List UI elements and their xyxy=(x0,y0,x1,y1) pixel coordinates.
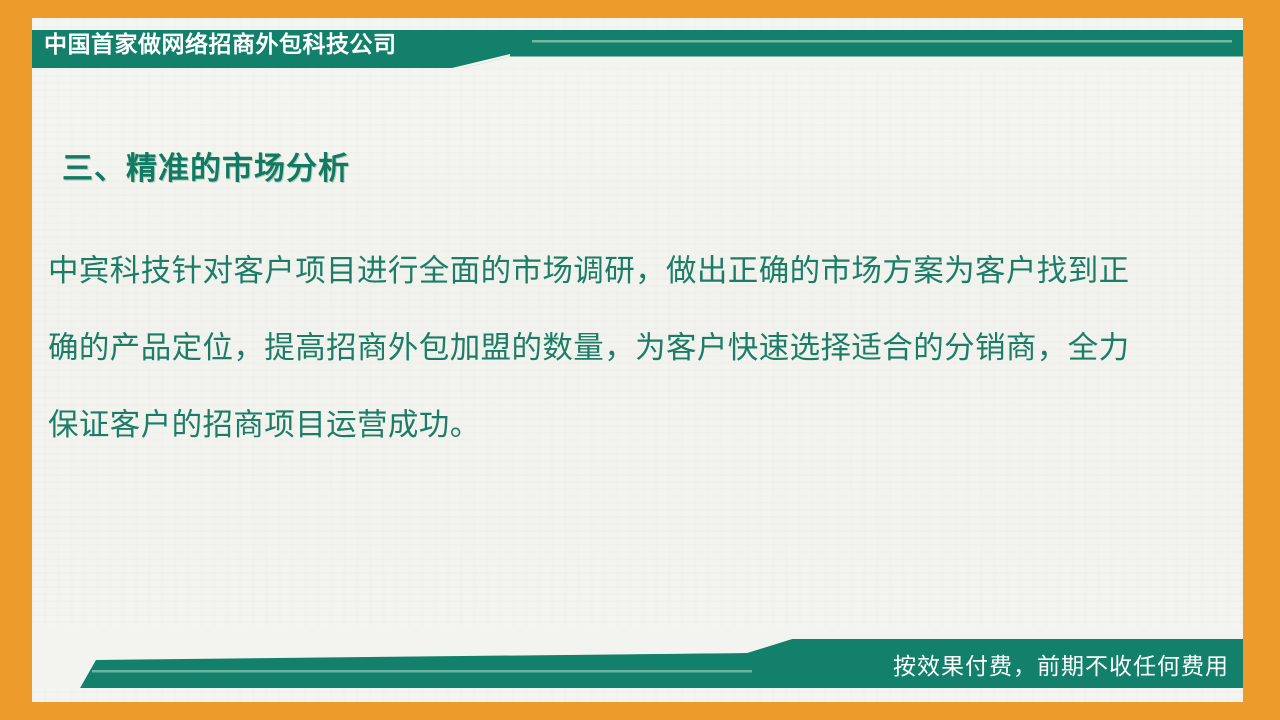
footer-tagline: 按效果付费，前期不收任何费用 xyxy=(893,652,1229,680)
body-line-1: 中宾科技针对客户项目进行全面的市场调研，做出正确的市场方案为客户找到正 xyxy=(48,233,1213,310)
slide-canvas: 中国首家做网络招商外包科技公司 三、精准的市场分析 中宾科技针对客户项目进行全面… xyxy=(0,0,1280,720)
slide-paper-background: 中国首家做网络招商外包科技公司 三、精准的市场分析 中宾科技针对客户项目进行全面… xyxy=(32,18,1243,702)
body-paragraph: 中宾科技针对客户项目进行全面的市场调研，做出正确的市场方案为客户找到正 确的产品… xyxy=(48,233,1213,464)
section-heading: 三、精准的市场分析 xyxy=(62,143,350,188)
body-line-3: 保证客户的招商项目运营成功。 xyxy=(48,387,1213,464)
body-line-2: 确的产品定位，提高招商外包加盟的数量，为客户快速选择适合的分销商，全力 xyxy=(48,310,1213,387)
header-title: 中国首家做网络招商外包科技公司 xyxy=(44,30,524,58)
